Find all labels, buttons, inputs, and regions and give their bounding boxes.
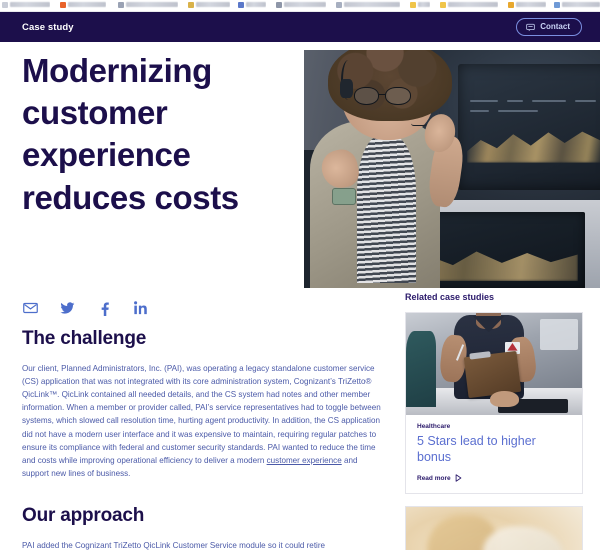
card-image-colleague [406,331,436,406]
share-linkedin-button[interactable] [133,300,149,316]
bookmark-favicon-icon [336,2,342,8]
related-case-study-card[interactable]: Healthcare 5 Stars lead to higher bonus … [405,312,583,494]
hero-image [304,50,600,288]
bookmark-favicon-icon [554,2,560,8]
bookmark-label [344,2,400,7]
bookmark-label [448,2,498,7]
challenge-paragraph: Our client, Planned Administrators, Inc.… [22,362,382,480]
card-title: 5 Stars lead to higher bonus [417,434,571,465]
bookmark-item[interactable] [440,1,498,8]
hero-image-glasses-right [385,87,410,105]
customer-experience-link[interactable]: customer experience [267,456,342,465]
approach-heading: Our approach [22,505,382,527]
bookmark-favicon-icon [410,2,416,8]
share-twitter-button[interactable] [59,300,75,316]
bookmark-label [10,2,50,7]
facebook-icon [100,301,109,316]
chat-bubble-icon [526,23,535,32]
bookmark-favicon-icon [118,2,124,8]
bookmark-label [562,2,600,7]
card-image-hand [490,391,518,407]
card-read-more-link[interactable]: Read more [417,474,571,482]
hero-section: Modernizing customer experience reduces … [0,42,600,288]
linkedin-icon [134,301,148,315]
share-facebook-button[interactable] [96,300,112,316]
approach-paragraph: PAI added the Cognizant TriZetto QicLink… [22,539,382,550]
bookmark-label [196,2,230,7]
bookmark-item[interactable] [276,1,326,8]
bookmark-favicon-icon [238,2,244,8]
envelope-icon [23,302,38,314]
article-column: The challenge Our client, Planned Admini… [22,328,382,550]
challenge-text-before-link: Our client, Planned Administrators, Inc.… [22,364,381,465]
card-image-monitor [540,319,579,350]
challenge-heading: The challenge [22,328,382,350]
bookmark-item[interactable] [508,1,546,8]
page-header-bar: Case study Contact [0,12,600,42]
bookmark-label [516,2,546,7]
related-case-study-card[interactable] [405,506,583,550]
bookmark-favicon-icon [276,2,282,8]
sidebar-heading: Related case studies [405,292,583,302]
twitter-icon [60,302,75,315]
hero-image-glasses-left [354,87,379,105]
card-category-tag: Healthcare [417,423,571,430]
bookmark-item[interactable] [2,1,50,8]
bookmark-label [126,2,178,7]
bookmark-label [418,2,430,7]
hero-image-person-top [357,136,416,284]
bookmark-item[interactable] [188,1,230,8]
page-title: Case study [22,22,74,33]
card-image-clipboard [464,351,521,398]
card-read-more-label: Read more [417,475,451,482]
bookmark-item[interactable] [336,1,400,8]
hero-headline: Modernizing customer experience reduces … [22,50,312,219]
browser-bookmarks-bar [0,0,600,12]
contact-button-label: Contact [540,23,570,31]
bookmark-item[interactable] [118,1,178,8]
hero-image-headset-pad [340,79,353,98]
bookmark-label [284,2,326,7]
bookmark-item[interactable] [410,1,430,8]
bookmark-item[interactable] [554,1,600,8]
related-case-studies-sidebar: Related case studies Healthcare [405,292,583,550]
card-image [406,313,582,415]
play-triangle-icon [455,474,462,482]
bookmark-favicon-icon [188,2,194,8]
hero-image-wristwatch [332,188,356,205]
bookmark-favicon-icon [508,2,514,8]
hero-image-monitor [458,64,600,190]
card-image [406,507,582,550]
contact-button[interactable]: Contact [516,18,582,36]
bookmark-label [68,2,106,7]
card-body: Healthcare 5 Stars lead to higher bonus … [406,415,582,493]
bookmark-label [246,2,266,7]
share-email-button[interactable] [22,300,38,316]
bookmark-favicon-icon [2,2,8,8]
bookmark-favicon-icon [60,2,66,8]
hero-image-glasses-bridge [379,94,385,95]
social-share-row [22,300,149,316]
bookmark-favicon-icon [440,2,446,8]
bookmark-item[interactable] [238,1,266,8]
bookmark-item[interactable] [60,1,106,8]
browser-viewport: Case study Contact Modernizing customer … [0,0,600,550]
